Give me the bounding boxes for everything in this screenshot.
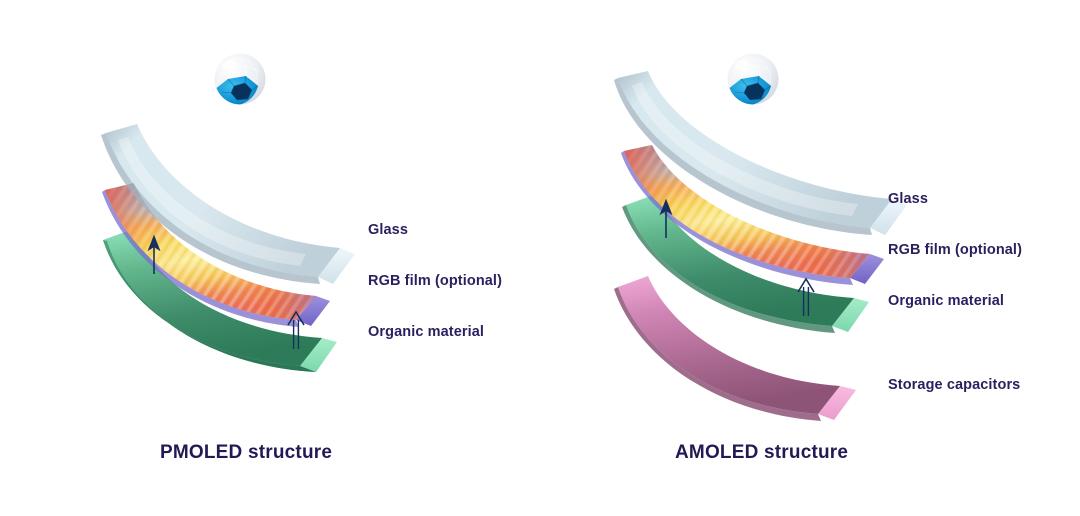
faceted-crystal-ball-icon xyxy=(728,54,779,105)
label-organic-material: Organic material xyxy=(368,325,484,340)
amoled-illustration xyxy=(540,0,1080,516)
panel-pmoled: Glass RGB film (optional) Organic materi… xyxy=(0,0,540,516)
label-glass: Glass xyxy=(368,223,408,238)
label-glass: Glass xyxy=(888,192,928,207)
oled-structure-diagram: Glass RGB film (optional) Organic materi… xyxy=(0,0,1080,516)
caption-pmoled: PMOLED structure xyxy=(160,443,332,462)
label-storage-capacitors: Storage capacitors xyxy=(888,378,1020,393)
faceted-crystal-ball-icon xyxy=(215,54,266,105)
pmoled-illustration xyxy=(0,0,540,516)
panel-amoled: Glass RGB film (optional) Organic materi… xyxy=(540,0,1080,516)
label-rgb-film: RGB film (optional) xyxy=(368,274,502,289)
label-organic-material: Organic material xyxy=(888,294,1004,309)
caption-amoled: AMOLED structure xyxy=(675,443,848,462)
label-rgb-film: RGB film (optional) xyxy=(888,243,1022,258)
